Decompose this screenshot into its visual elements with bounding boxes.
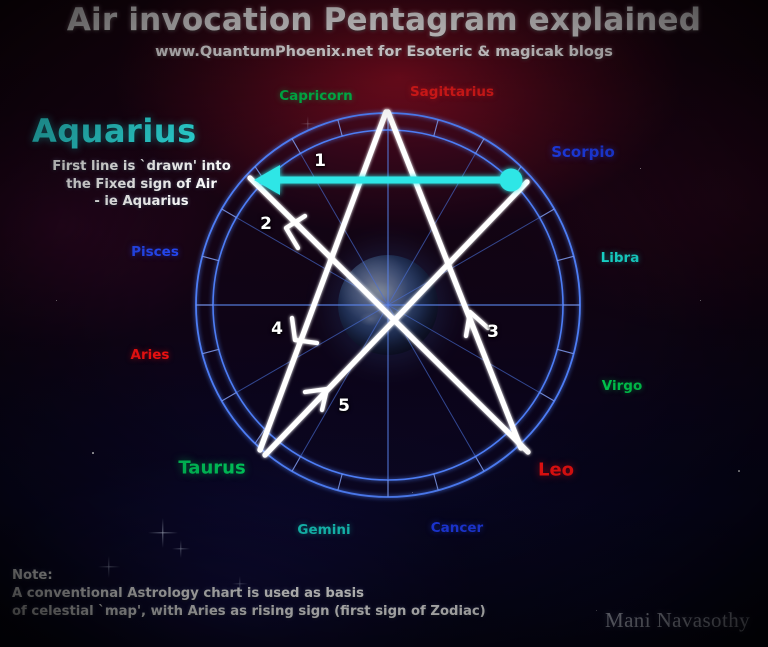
aquarius-callout-line-3: - ie Aquarius: [34, 193, 249, 211]
aquarius-callout-text: First line is `drawn' into the Fixed sig…: [34, 158, 249, 211]
poster-canvas: Air invocation Pentagram explained www.Q…: [0, 0, 768, 647]
aquarius-heading: Aquarius: [32, 112, 197, 150]
stroke-number-2: 2: [260, 214, 272, 234]
stroke-number-4: 4: [271, 319, 283, 339]
zodiac-label-taurus: Taurus: [178, 458, 245, 479]
author-signature: Mani Navasothy: [605, 608, 750, 633]
footer-note-label: Note:: [12, 567, 486, 585]
stroke-number-1: 1: [314, 151, 326, 171]
zodiac-label-gemini: Gemini: [297, 522, 350, 538]
zodiac-label-libra: Libra: [601, 250, 640, 266]
stroke-number-5: 5: [338, 396, 350, 416]
page-subtitle: www.QuantumPhoenix.net for Esoteric & ma…: [0, 44, 768, 60]
footer-note-line-2: of celestial `map', with Aries as rising…: [12, 603, 486, 621]
zodiac-label-scorpio: Scorpio: [551, 143, 615, 161]
zodiac-label-cancer: Cancer: [431, 520, 483, 536]
astrology-wheel-pentagram: [0, 0, 768, 647]
stroke-number-3: 3: [487, 322, 499, 342]
aquarius-callout-line-1: First line is `drawn' into: [34, 158, 249, 176]
footer-note-line-1: A conventional Astrology chart is used a…: [12, 585, 486, 603]
zodiac-label-sagittarius: Sagittarius: [410, 84, 494, 100]
page-title: Air invocation Pentagram explained: [0, 2, 768, 38]
aquarius-callout-line-2: the Fixed sign of Air: [34, 176, 249, 194]
zodiac-label-virgo: Virgo: [602, 378, 642, 394]
footer-note: Note: A conventional Astrology chart is …: [12, 567, 486, 621]
zodiac-label-capricorn: Capricorn: [279, 88, 353, 104]
zodiac-label-pisces: Pisces: [131, 244, 179, 260]
zodiac-label-leo: Leo: [538, 460, 574, 481]
zodiac-label-aries: Aries: [131, 347, 170, 363]
